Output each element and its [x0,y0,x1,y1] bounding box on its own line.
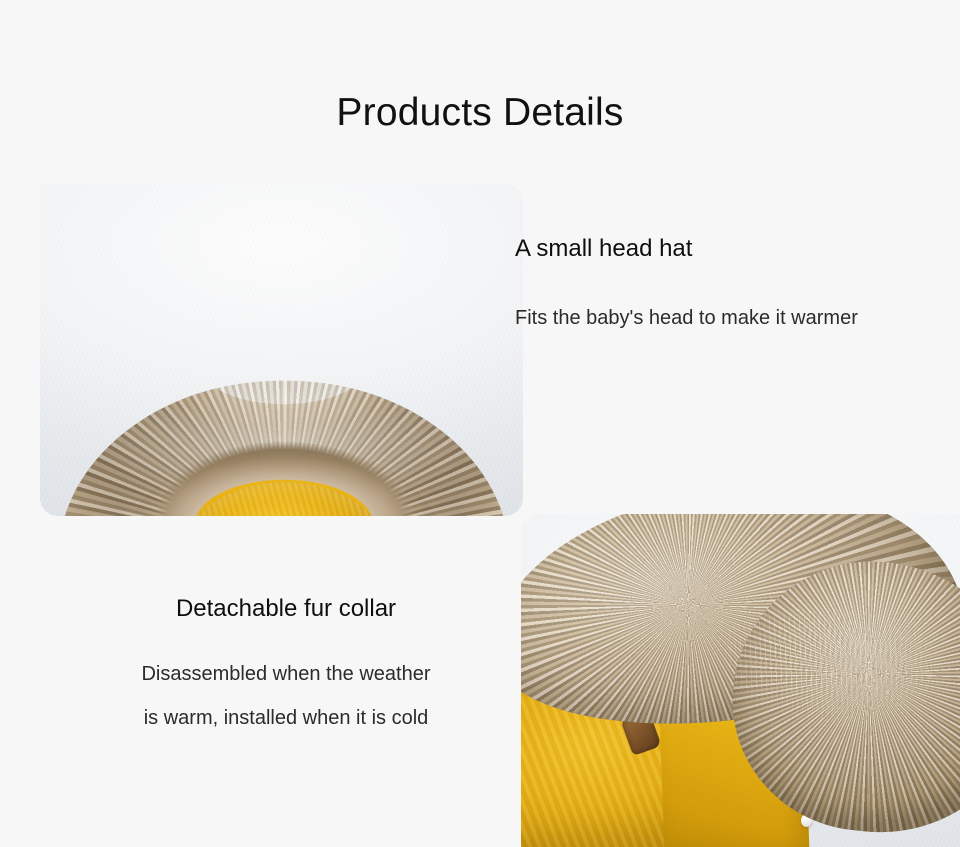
product-details-page: Products Details A small head hat [0,0,960,831]
hood-top-view-photo [40,184,523,516]
collar-fur-wisps [713,601,960,748]
feature-title-detachable-fur-collar: Detachable fur collar [96,592,476,626]
feature-block-small-head-hat: A small head hat Fits the baby's head to… [515,232,935,340]
fur-highlight-sheen [58,380,510,516]
detachable-fur-collar-photo [521,514,960,847]
feature-description-small-head-hat: Fits the baby's head to make it warmer [515,296,935,340]
hood-fur-ruff [58,380,510,516]
page-title: Products Details [0,88,960,138]
feature-description-line-1: Disassembled when the weather [141,663,430,685]
feature-description-line-2: is warm, installed when it is cold [96,696,476,740]
feature-block-detachable-fur-collar: Detachable fur collar Disassembled when … [96,592,476,740]
feature-title-small-head-hat: A small head hat [515,232,935,266]
feature-description-detachable-fur-collar: Disassembled when the weather is warm, i… [96,652,476,740]
